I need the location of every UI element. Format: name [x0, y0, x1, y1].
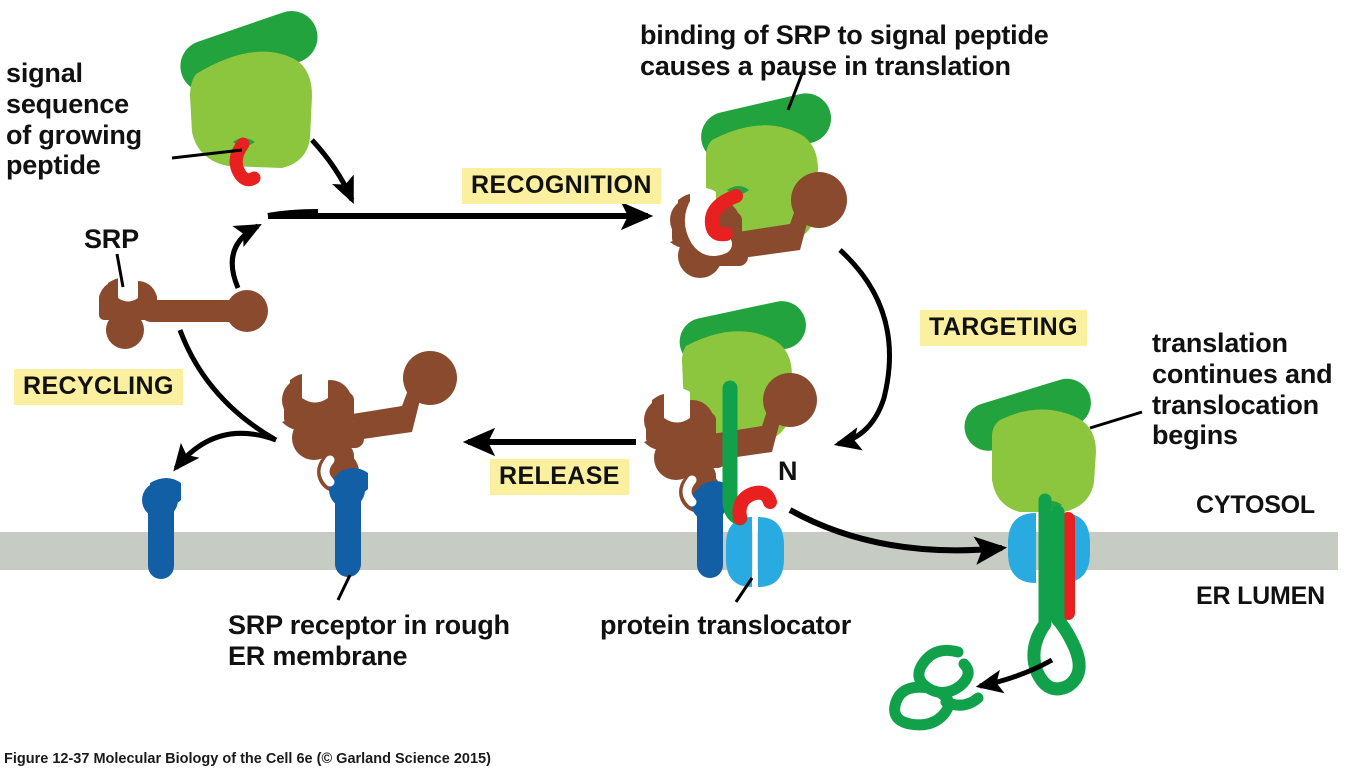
diagram-graphics [0, 0, 1346, 778]
ribosome-srp-complex [670, 88, 847, 278]
label-cytosol: CYTOSOL [1196, 491, 1315, 520]
figure-canvas: signal sequence of growing peptide SRP b… [0, 0, 1346, 778]
protein-translocator [726, 517, 784, 587]
ribosome-small-subunit [190, 52, 312, 168]
stage-tag-targeting: TARGETING [920, 310, 1087, 346]
label-n-terminus: N [778, 456, 798, 487]
translocating-ribosome [959, 373, 1097, 689]
label-srp-receptor: SRP receptor in rough ER membrane [228, 610, 510, 672]
stage-tag-recycling: RECYCLING [14, 369, 183, 405]
leader-srp-receptor [338, 575, 350, 600]
label-srp: SRP [84, 224, 139, 255]
label-signal-sequence: signal sequence of growing peptide [6, 58, 142, 181]
stage-tag-recognition: RECOGNITION [462, 168, 661, 204]
figure-caption: Figure 12-37 Molecular Biology of the Ce… [4, 751, 491, 767]
ribosome-free [173, 4, 324, 180]
label-translation-note: translation continues and translocation … [1152, 328, 1332, 451]
er-membrane-band [0, 532, 1338, 570]
stage-tag-release: RELEASE [490, 459, 629, 495]
label-protein-translocator: protein translocator [600, 610, 851, 641]
label-er-lumen: ER LUMEN [1196, 582, 1325, 611]
folded-protein [895, 650, 978, 725]
arrow-recycling [176, 433, 276, 468]
signal-sequence-peptide [740, 493, 771, 518]
arrow-targeting [838, 250, 890, 444]
arrow-srp-to-recognition [232, 226, 258, 288]
arrow-recycling-source [180, 330, 276, 440]
label-binding-note: binding of SRP to signal peptide causes … [640, 20, 1049, 82]
arrow-ribosome-enters [312, 140, 352, 200]
leader-translation-note [1090, 412, 1142, 428]
